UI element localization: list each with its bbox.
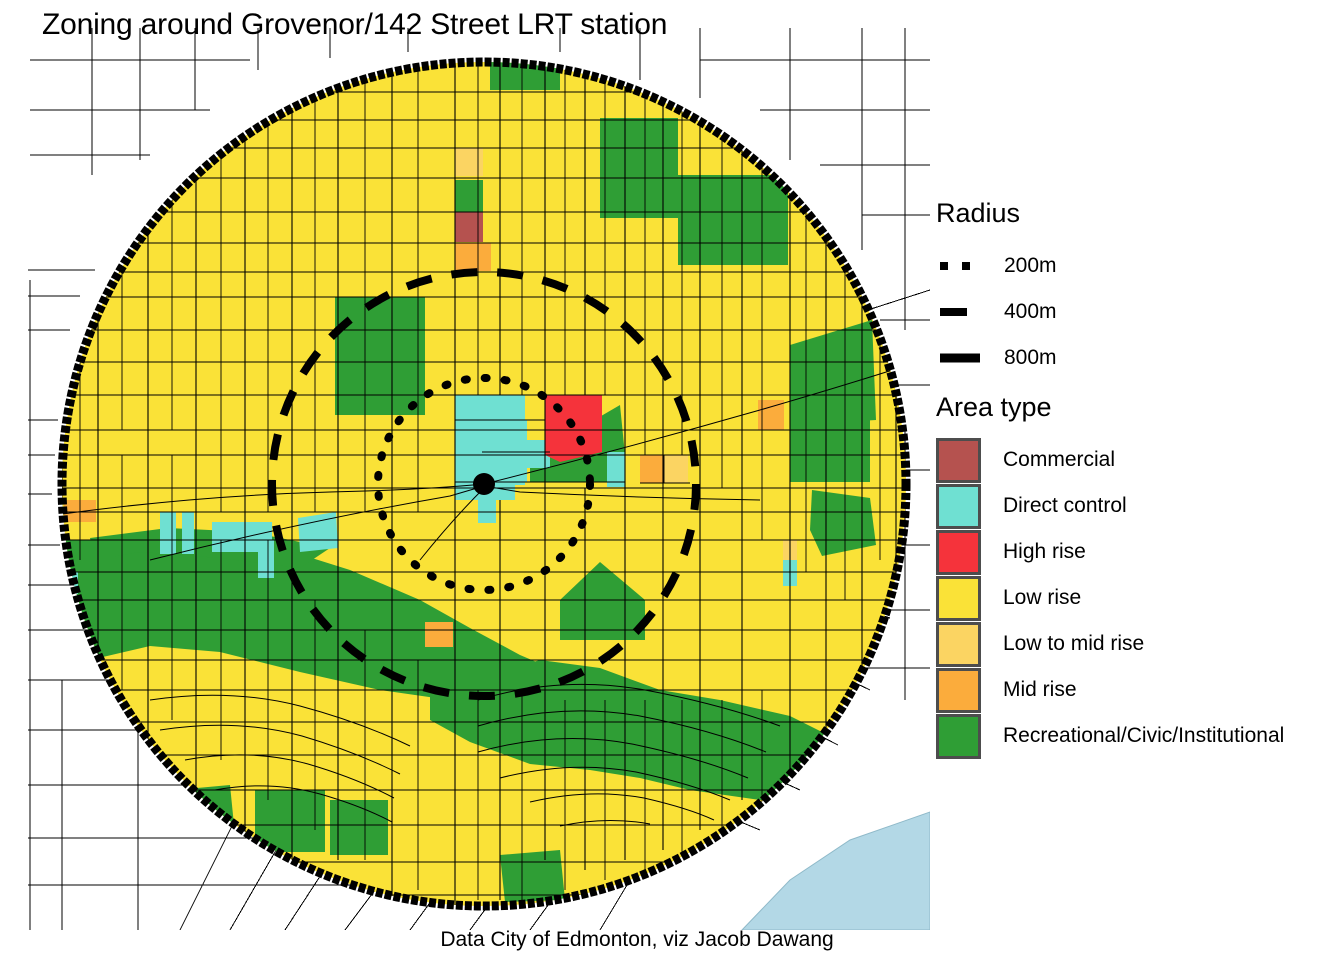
- solid-line-icon: [936, 335, 982, 381]
- source-caption: Data City of Edmonton, viz Jacob Dawang: [0, 928, 1344, 952]
- legend-radius-item-200m[interactable]: 200m: [936, 243, 1336, 289]
- legend-area-label-low-to-mid-rise: Low to mid rise: [1003, 632, 1144, 656]
- legend-area-item-direct-control[interactable]: Direct control: [936, 483, 1336, 529]
- legend-area-item-low-to-mid-rise[interactable]: Low to mid rise: [936, 621, 1336, 667]
- legend-area-type: Area type Commercial Direct control High…: [936, 392, 1336, 759]
- legend-radius-item-800m[interactable]: 800m: [936, 335, 1336, 381]
- river-north-saskatchewan: [742, 812, 930, 930]
- legend-radius-item-400m[interactable]: 400m: [936, 289, 1336, 335]
- swatch-low-to-mid-rise: [936, 622, 981, 667]
- swatch-low-rise: [936, 576, 981, 621]
- legend-radius-title: Radius: [936, 198, 1336, 229]
- legend-radius: Radius 200m 400m 800m: [936, 198, 1336, 381]
- lrt-station-marker[interactable]: [473, 473, 495, 495]
- swatch-commercial: [936, 438, 981, 483]
- zoning-map[interactable]: [0, 0, 930, 930]
- dashed-line-icon: [936, 289, 982, 335]
- zoning-map-page: Zoning around Grovenor/142 Street LRT st…: [0, 0, 1344, 960]
- legend-area-label-low-rise: Low rise: [1003, 586, 1081, 610]
- legend-area-item-recreational[interactable]: Recreational/Civic/Institutional: [936, 713, 1336, 759]
- commercial-areas: [455, 212, 483, 242]
- legend-radius-label-200m: 200m: [1004, 254, 1057, 278]
- legend-area-label-high-rise: High rise: [1003, 540, 1086, 564]
- high-rise-areas: [545, 395, 602, 462]
- dotted-line-icon: [936, 243, 982, 289]
- legend-area-label-mid-rise: Mid rise: [1003, 678, 1077, 702]
- legend-radius-label-800m: 800m: [1004, 346, 1057, 370]
- legend-area-label-commercial: Commercial: [1003, 448, 1115, 472]
- legend-area-item-low-rise[interactable]: Low rise: [936, 575, 1336, 621]
- legend-area-type-title: Area type: [936, 392, 1336, 423]
- legend-area-item-high-rise[interactable]: High rise: [936, 529, 1336, 575]
- legend-area-item-mid-rise[interactable]: Mid rise: [936, 667, 1336, 713]
- legend-area-label-recreational: Recreational/Civic/Institutional: [1003, 724, 1284, 748]
- legend-area-label-direct-control: Direct control: [1003, 494, 1127, 518]
- swatch-high-rise: [936, 530, 981, 575]
- swatch-mid-rise: [936, 668, 981, 713]
- swatch-direct-control: [936, 484, 981, 529]
- legend-area-item-commercial[interactable]: Commercial: [936, 437, 1336, 483]
- legend-radius-label-400m: 400m: [1004, 300, 1057, 324]
- swatch-recreational: [936, 714, 981, 759]
